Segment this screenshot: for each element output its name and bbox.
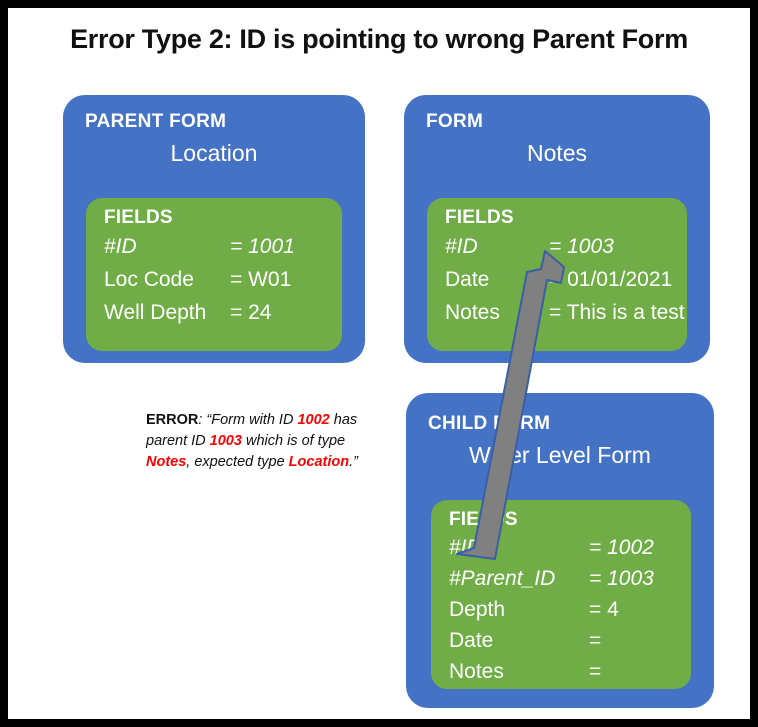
page-title: Error Type 2: ID is pointing to wrong Pa…	[8, 24, 750, 55]
field-row: Date = 01/01/2021	[445, 268, 489, 292]
field-row: Notes = This is a test	[445, 301, 500, 325]
field-name: Notes	[445, 301, 500, 325]
field-name: Date	[449, 629, 493, 653]
notes-form-fields-box: FIELDS #ID = 1003 Date = 01/01/2021 Note…	[427, 198, 687, 351]
field-name: Loc Code	[104, 268, 194, 292]
parent-form-card[interactable]: PARENT FORM Location FIELDS #ID = 1001 L…	[63, 95, 365, 363]
error-id-value: 1002	[297, 412, 329, 428]
field-value: =	[589, 629, 601, 653]
notes-form-fields-title: FIELDS	[445, 207, 514, 229]
field-name: Depth	[449, 598, 505, 622]
field-value: =	[589, 660, 601, 684]
field-name: #ID	[449, 536, 482, 560]
child-form-name: Water Level Form	[406, 442, 714, 469]
field-row: Notes =	[449, 660, 504, 684]
field-name: #ID	[104, 235, 137, 259]
parent-form-fields-box: FIELDS #ID = 1001 Loc Code = W01 Well De…	[86, 198, 342, 351]
field-row: Well Depth = 24	[104, 301, 206, 325]
child-form-fields-title: FIELDS	[449, 509, 518, 531]
notes-form-kind-label: FORM	[426, 111, 483, 133]
field-value: = 1002	[589, 536, 654, 560]
error-text-mid-3: , expected type	[186, 454, 288, 470]
field-row: #ID = 1002	[449, 536, 482, 560]
child-form-fields-box: FIELDS #ID = 1002 #Parent_ID = 1003 Dept…	[431, 500, 691, 689]
error-text-mid-2: which is of type	[242, 433, 345, 449]
error-text-tail: .”	[349, 454, 358, 470]
field-value: = W01	[230, 268, 291, 292]
child-form-kind-label: CHILD FORM	[428, 413, 550, 435]
field-name: #Parent_ID	[449, 567, 555, 591]
field-row: #Parent_ID = 1003	[449, 567, 555, 591]
field-row: Loc Code = W01	[104, 268, 194, 292]
error-text-open: : “Form with ID	[198, 412, 297, 428]
error-message-note: ERROR: “Form with ID 1002 has parent ID …	[146, 410, 364, 473]
field-name: #ID	[445, 235, 478, 259]
field-value: = 01/01/2021	[549, 268, 672, 292]
field-name: Notes	[449, 660, 504, 684]
error-expected-type: Location	[289, 454, 349, 470]
field-value: = 1003	[549, 235, 614, 259]
field-value: = 1001	[230, 235, 295, 259]
error-parent-id-value: 1003	[210, 433, 242, 449]
child-form-card[interactable]: CHILD FORM Water Level Form FIELDS #ID =…	[406, 393, 714, 708]
parent-form-kind-label: PARENT FORM	[85, 111, 226, 133]
parent-form-fields-title: FIELDS	[104, 207, 173, 229]
slide-canvas: Error Type 2: ID is pointing to wrong Pa…	[0, 0, 758, 727]
notes-form-name: Notes	[404, 140, 710, 167]
field-row: #ID = 1001	[104, 235, 137, 259]
field-row: Date =	[449, 629, 493, 653]
field-name: Well Depth	[104, 301, 206, 325]
field-row: #ID = 1003	[445, 235, 478, 259]
field-value: = 24	[230, 301, 271, 325]
field-row: Depth = 4	[449, 598, 505, 622]
parent-form-name: Location	[63, 140, 365, 167]
notes-form-card[interactable]: FORM Notes FIELDS #ID = 1003 Date = 01/0…	[404, 95, 710, 363]
field-value: = 1003	[589, 567, 654, 591]
error-actual-type: Notes	[146, 454, 186, 470]
field-name: Date	[445, 268, 489, 292]
field-value: = This is a test	[549, 301, 685, 325]
field-value: = 4	[589, 598, 619, 622]
error-label: ERROR	[146, 412, 198, 428]
